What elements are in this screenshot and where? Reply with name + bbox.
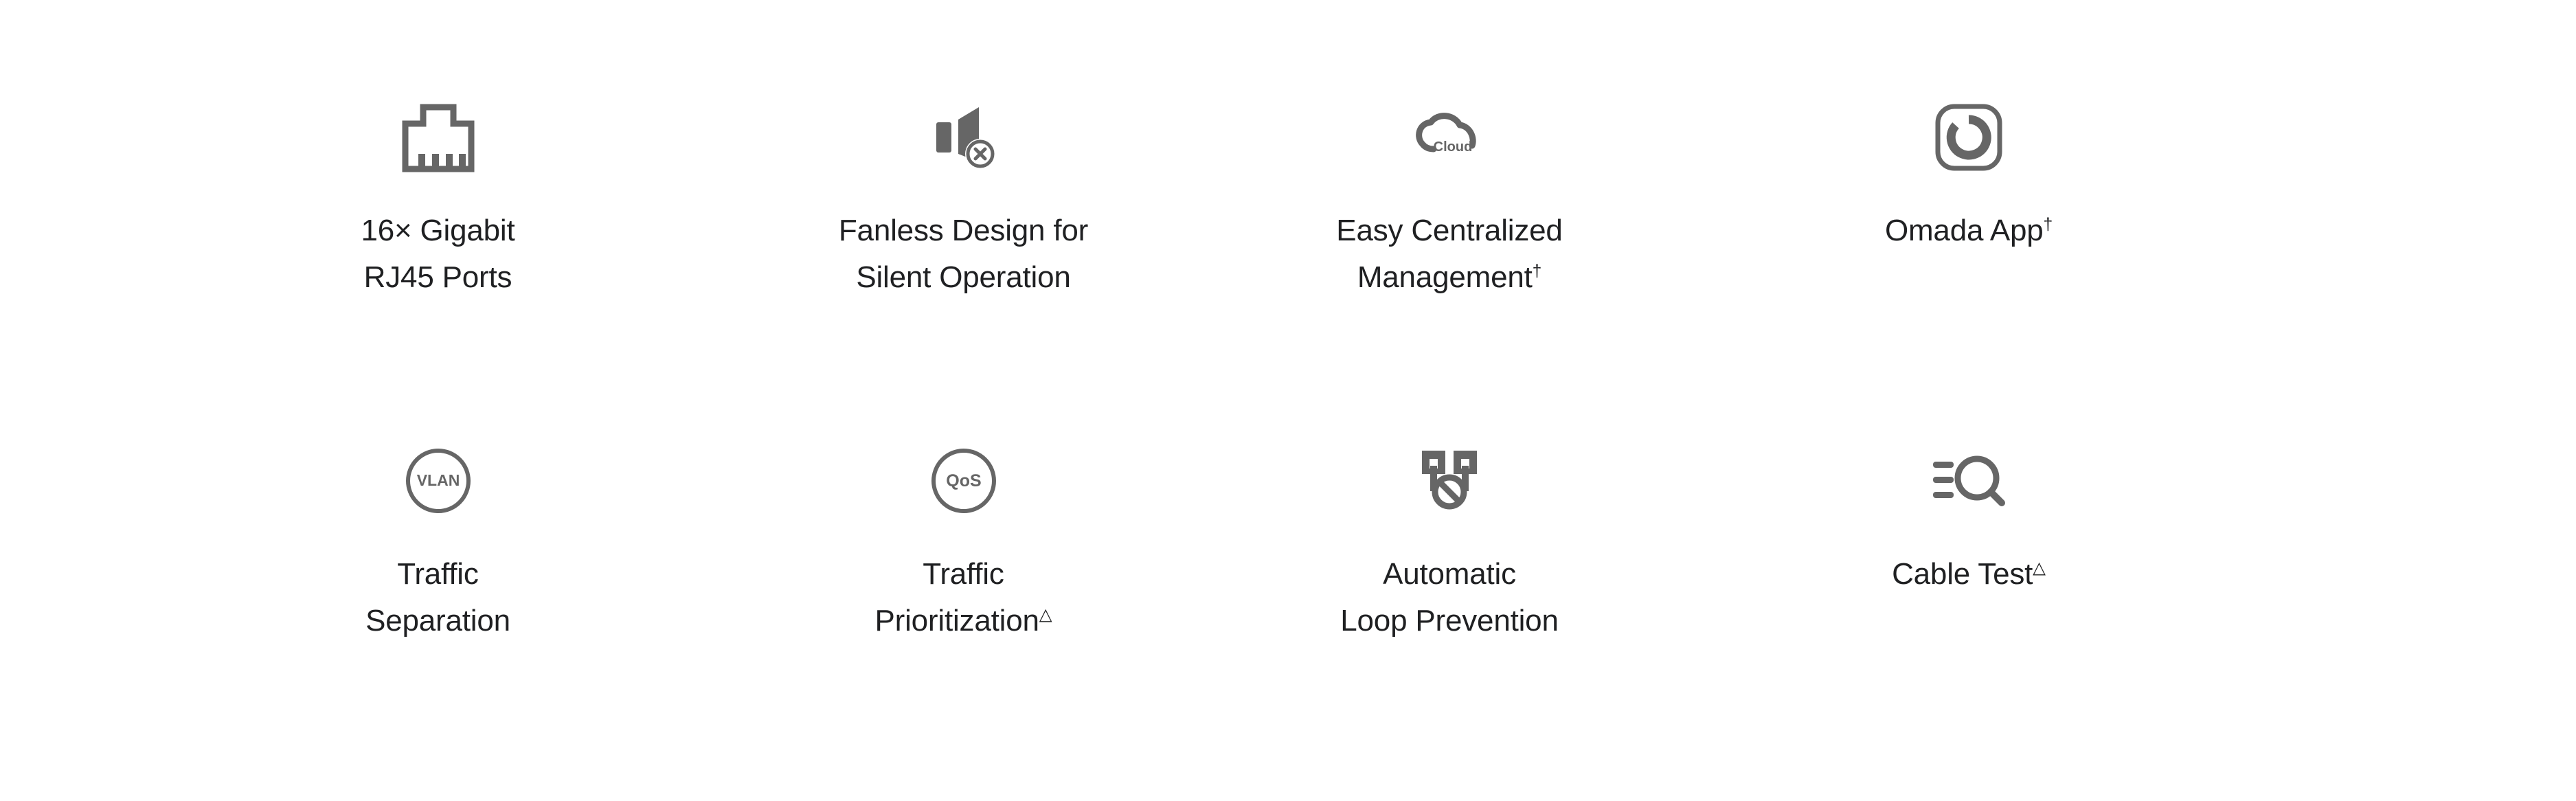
feature-label-line1: Traffic xyxy=(923,557,1004,591)
feature-label: TrafficSeparation xyxy=(365,551,510,644)
feature-label-line2: Separation xyxy=(365,604,510,638)
feature-label: Omada App† xyxy=(1885,207,2053,254)
feature-item-fanless-design: Fanless Design forSilent Operation xyxy=(831,96,1326,337)
feature-label-line2: Management xyxy=(1357,260,1533,294)
feature-label-line2: Prioritization xyxy=(874,604,1039,638)
vlan-icon-text: VLAN xyxy=(416,471,460,489)
feature-label-line1: Automatic xyxy=(1383,557,1516,591)
feature-item-cable-test: Cable Test△ xyxy=(1807,440,2576,680)
feature-label-line1: 16× Gigabit xyxy=(361,214,515,247)
feature-label-marker: † xyxy=(2044,215,2053,234)
rj45-port-icon xyxy=(400,96,477,179)
feature-item-traffic-separation: VLAN TrafficSeparation xyxy=(302,440,831,680)
feature-label: AutomaticLoop Prevention xyxy=(1340,551,1558,644)
feature-label-marker: † xyxy=(1533,262,1542,280)
feature-label-marker: △ xyxy=(1039,605,1052,624)
feature-label-line2: Silent Operation xyxy=(856,260,1070,294)
speaker-mute-icon xyxy=(928,96,999,179)
omada-app-icon xyxy=(1933,96,2004,179)
feature-item-loop-prevention: AutomaticLoop Prevention xyxy=(1326,440,1807,680)
feature-label-line1: Traffic xyxy=(397,557,478,591)
feature-label-line1: Cable Test xyxy=(1892,557,2033,591)
vlan-circle-icon: VLAN xyxy=(404,440,473,522)
feature-label: Cable Test△ xyxy=(1892,551,2046,598)
feature-label-line2: Loop Prevention xyxy=(1340,604,1558,638)
feature-item-gigabit-ports: 16× GigabitRJ45 Ports xyxy=(302,96,831,337)
feature-label-line2: RJ45 Ports xyxy=(364,260,512,294)
feature-label: Easy CentralizedManagement† xyxy=(1336,207,1562,301)
qos-icon-text: QoS xyxy=(946,471,981,490)
feature-highlights-grid: 16× GigabitRJ45 Ports Fanless Design for… xyxy=(0,0,2576,801)
cloud-icon: Cloud xyxy=(1412,96,1487,179)
feature-item-traffic-prioritization: QoS TrafficPrioritization△ xyxy=(831,440,1326,680)
feature-label-line1: Fanless Design for xyxy=(839,214,1088,247)
cable-test-magnifier-icon xyxy=(1930,440,2007,522)
feature-label-line1: Easy Centralized xyxy=(1336,214,1562,247)
feature-item-omada-app: Omada App† xyxy=(1807,96,2576,337)
feature-label: 16× GigabitRJ45 Ports xyxy=(361,207,515,301)
feature-label-marker: △ xyxy=(2033,559,2046,577)
feature-label-line1: Omada App xyxy=(1885,214,2044,247)
cloud-icon-text: Cloud xyxy=(1434,139,1473,155)
loop-prevention-icon xyxy=(1411,440,1488,522)
feature-item-centralized-management: Cloud Easy CentralizedManagement† xyxy=(1326,96,1807,337)
feature-label: TrafficPrioritization△ xyxy=(874,551,1052,644)
qos-circle-icon: QoS xyxy=(929,440,998,522)
feature-label: Fanless Design forSilent Operation xyxy=(839,207,1088,301)
